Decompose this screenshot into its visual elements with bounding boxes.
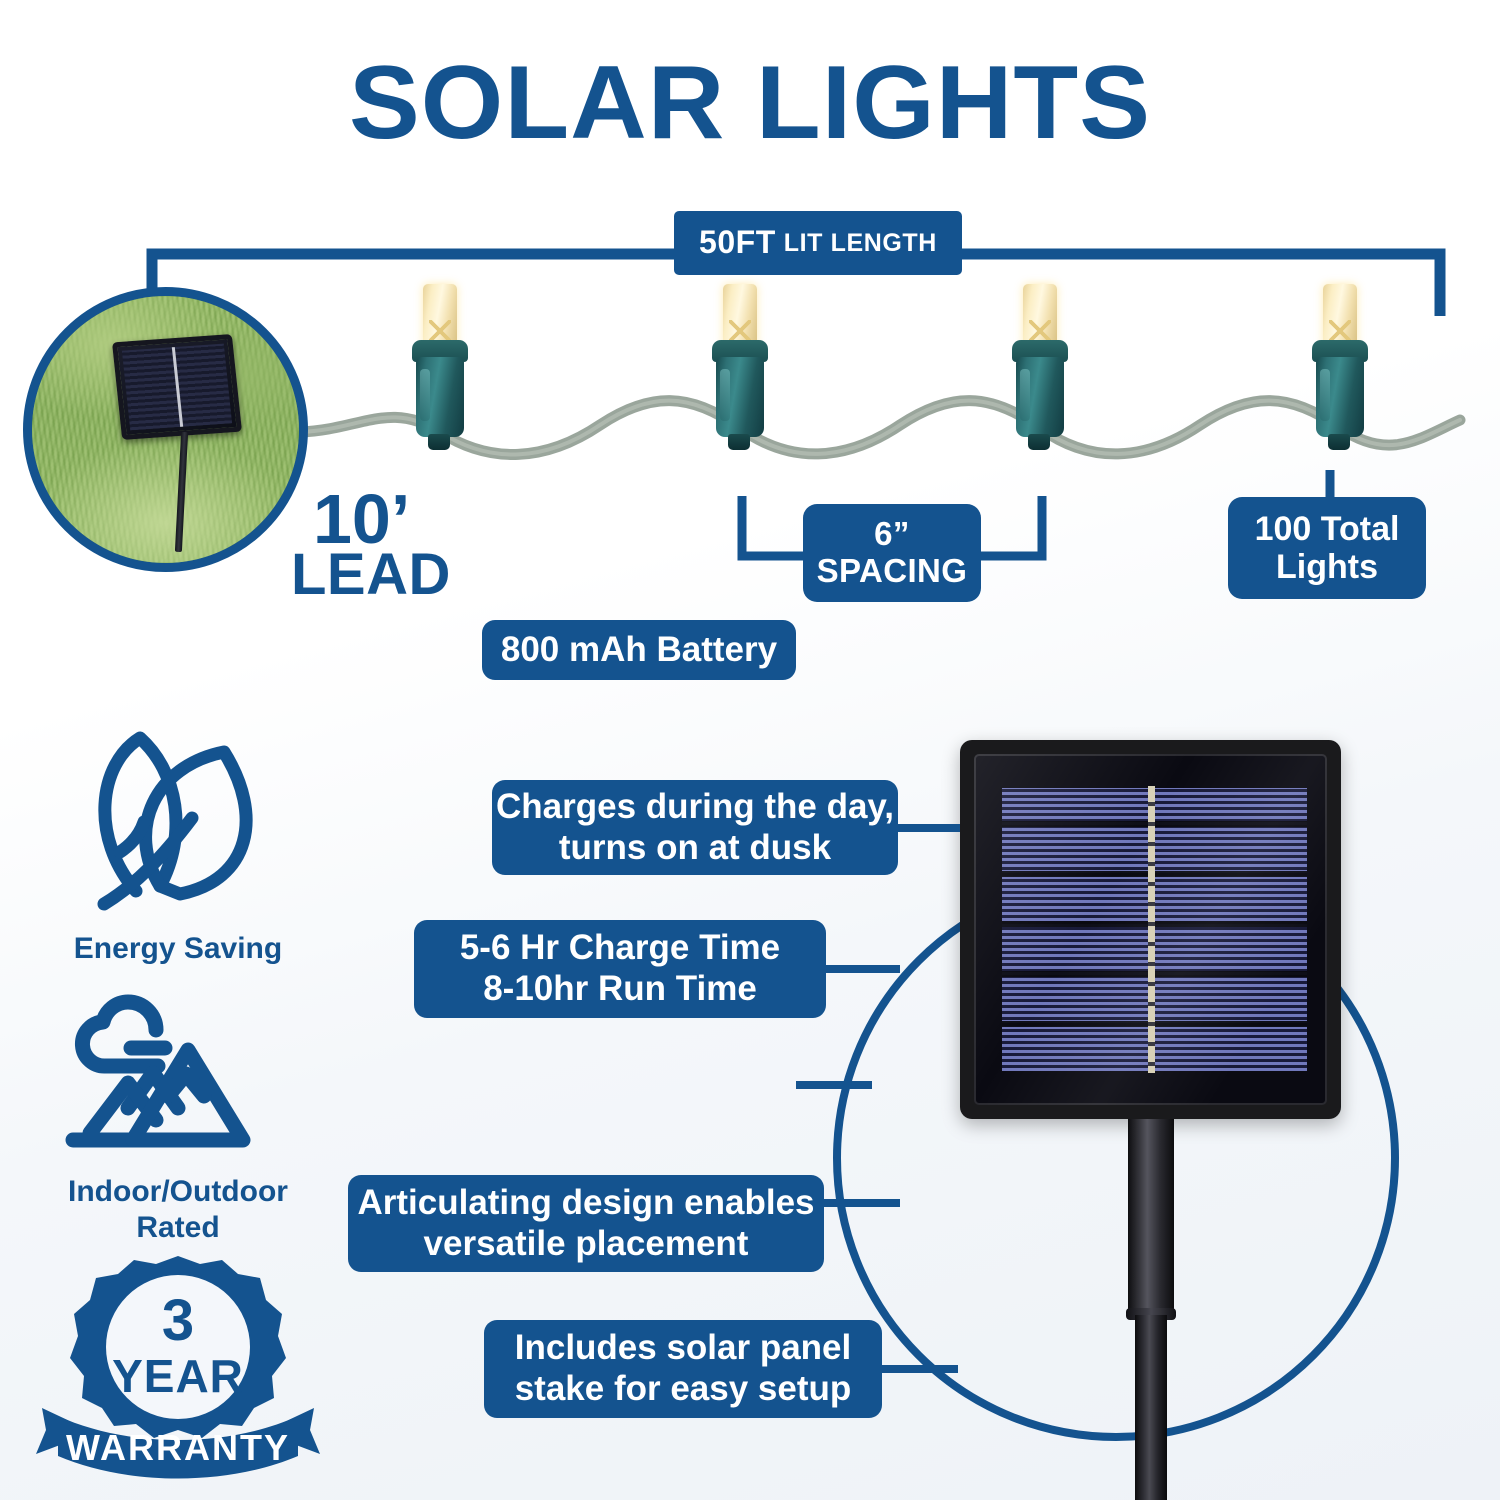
led-housing (416, 357, 464, 437)
callout-times: 5-6 Hr Charge Time 8-10hr Run Time (414, 920, 826, 1018)
led-base (428, 434, 450, 450)
callout-line2: stake for easy setup (515, 1369, 852, 1410)
infographic-page: SOLAR LIGHTS (0, 0, 1500, 1500)
callout-line2: turns on at dusk (559, 828, 831, 869)
callout-line1: Charges during the day, (496, 787, 894, 828)
led-bulb (706, 284, 772, 454)
callout-line2: 8-10hr Run Time (483, 969, 757, 1010)
led-lens (1023, 284, 1057, 346)
led-base (1328, 434, 1350, 450)
callout-line2: versatile placement (424, 1224, 749, 1265)
callout-charging: Charges during the day, turns on at dusk (492, 780, 898, 875)
spacing-label: 6” SPACING (803, 504, 981, 602)
led-bulb (1006, 284, 1072, 454)
led-base (728, 434, 750, 450)
callout-line1: Articulating design enables (357, 1183, 814, 1224)
callout-line1: Includes solar panel (515, 1328, 852, 1369)
callout-line1: 5-6 Hr Charge Time (460, 928, 780, 969)
callout-stake: Includes solar panel stake for easy setu… (484, 1320, 882, 1418)
lit-length-label: 50FT LIT LENGTH (674, 211, 962, 275)
callout-articulating: Articulating design enables versatile pl… (348, 1175, 824, 1272)
callout-line1: 800 mAh Battery (501, 630, 777, 671)
led-lens (723, 284, 757, 346)
led-housing (1016, 357, 1064, 437)
solar-stake-in-grass-photo (23, 287, 308, 572)
total-lights-line1: 100 Total (1255, 510, 1400, 548)
led-bulb (1306, 284, 1372, 454)
mini-solar-panel (112, 334, 242, 440)
product-detail-section: Charges during the day, turns on at dusk… (0, 620, 1500, 1500)
led-lens (1323, 284, 1357, 346)
led-bulb (406, 284, 472, 454)
total-lights-label: 100 Total Lights (1228, 497, 1426, 599)
string-light-diagram: 50FT LIT LENGTH 10’ LEAD 6” SPACING 100 … (0, 0, 1500, 640)
led-base (1028, 434, 1050, 450)
led-lens (423, 284, 457, 346)
led-housing (716, 357, 764, 437)
spacing-value: 6” (874, 516, 910, 553)
led-housing (1316, 357, 1364, 437)
lead-length-label: LEAD (291, 548, 451, 601)
lit-length-value: 50FT (699, 225, 776, 261)
lit-length-text: LIT LENGTH (784, 229, 937, 257)
total-lights-line2: Lights (1276, 548, 1378, 586)
callout-battery: 800 mAh Battery (482, 620, 796, 680)
spacing-text: SPACING (817, 553, 968, 590)
